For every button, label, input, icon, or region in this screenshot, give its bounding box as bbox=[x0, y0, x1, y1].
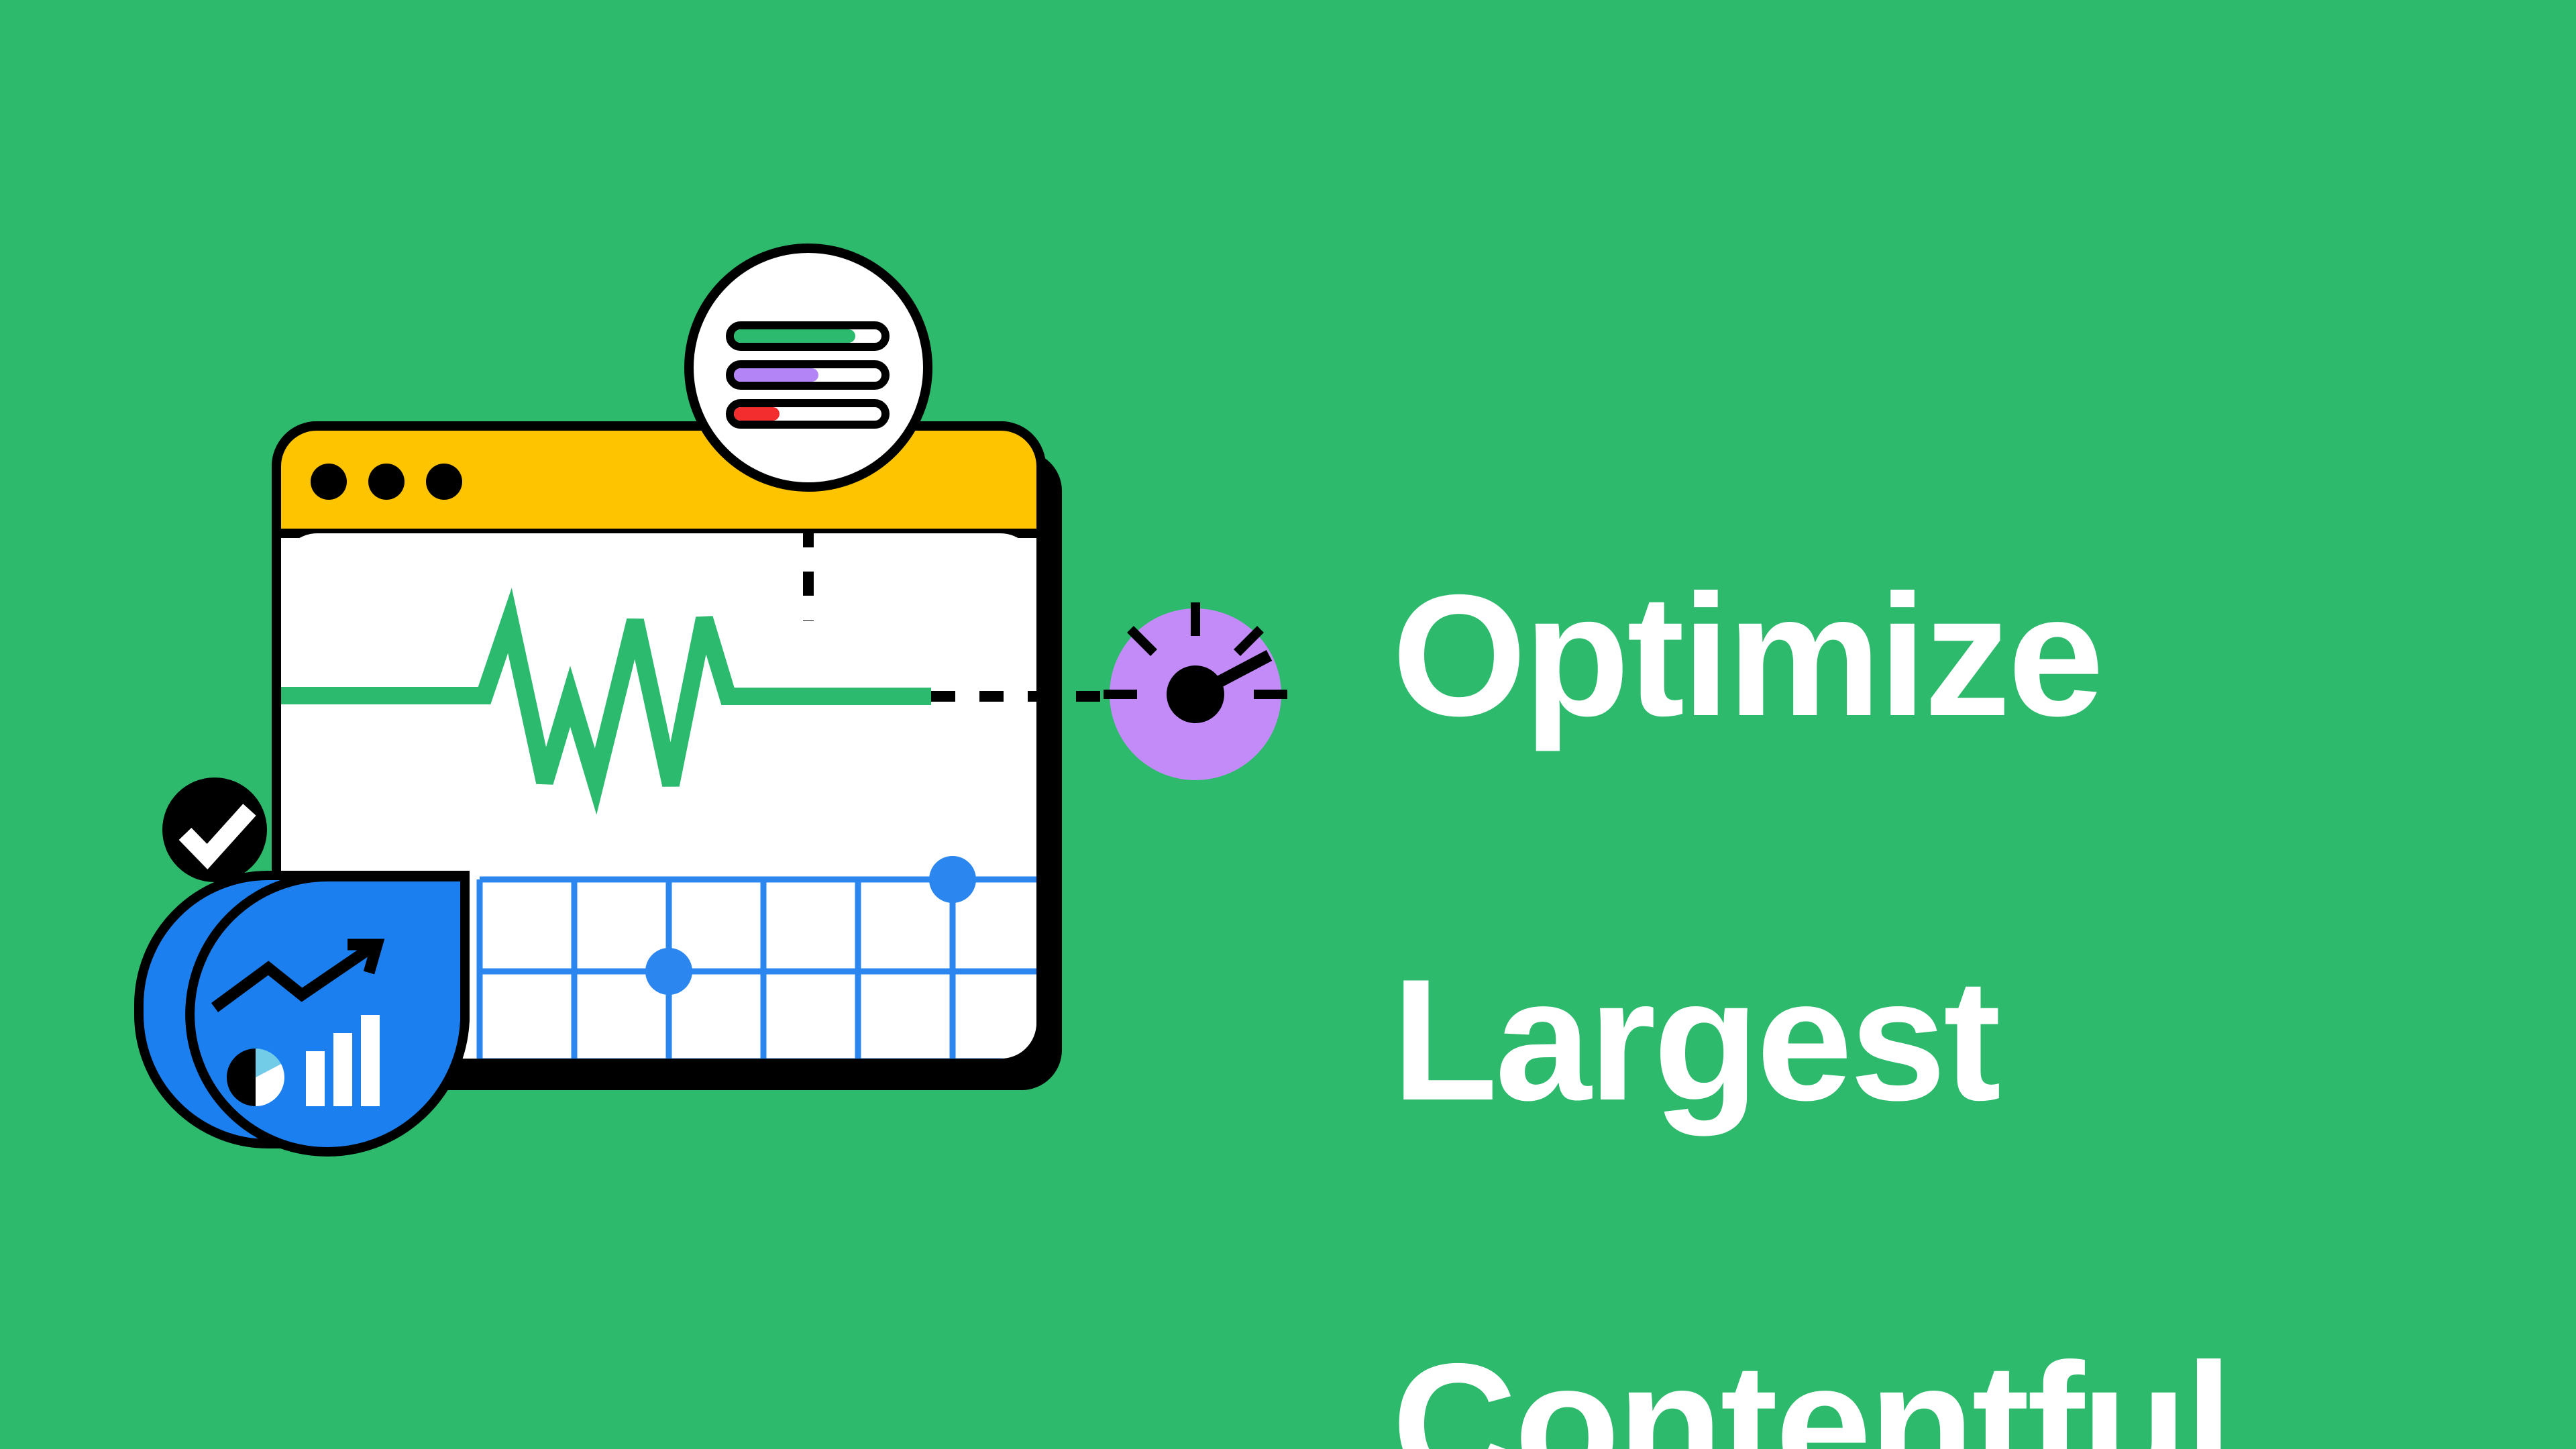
data-point-dot[interactable] bbox=[645, 948, 692, 995]
gauge-hub bbox=[1167, 665, 1224, 723]
page-title: Optimize Largest Contentful Paint bbox=[1392, 368, 2351, 1449]
metric-bar-average bbox=[730, 364, 885, 386]
headline-line-3: Contentful bbox=[1392, 1328, 2351, 1449]
metric-bar-fill bbox=[734, 407, 780, 421]
headline-line-1: Optimize bbox=[1392, 559, 2351, 751]
bar bbox=[333, 1033, 352, 1106]
metrics-badge[interactable] bbox=[689, 248, 928, 487]
metric-bar-poor bbox=[730, 403, 885, 425]
minimize-dot[interactable] bbox=[368, 464, 405, 500]
check-badge[interactable] bbox=[162, 777, 267, 882]
metric-bar-good bbox=[730, 325, 885, 347]
check-badge-circle bbox=[162, 777, 267, 882]
pie-chart-icon bbox=[227, 1049, 284, 1106]
bar bbox=[306, 1051, 325, 1106]
data-point-dot[interactable] bbox=[929, 856, 976, 903]
metric-bar-fill bbox=[734, 368, 818, 382]
illustration-canvas: Optimize Largest Contentful Paint bbox=[0, 0, 2576, 1449]
analytics-shield[interactable] bbox=[139, 875, 465, 1152]
analytics-shield-body bbox=[190, 877, 465, 1152]
headline-line-2: Largest bbox=[1392, 944, 2351, 1136]
close-dot[interactable] bbox=[311, 464, 347, 500]
metric-bar-fill bbox=[734, 329, 855, 343]
bar bbox=[361, 1015, 380, 1106]
maximize-dot[interactable] bbox=[426, 464, 462, 500]
